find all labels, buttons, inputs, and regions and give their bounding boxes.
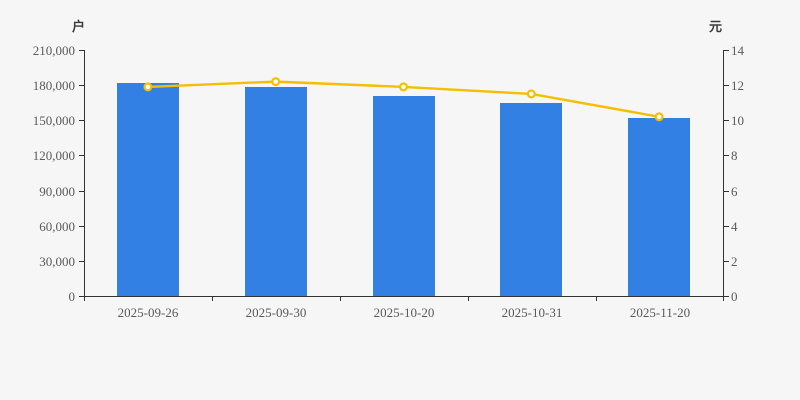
right-axis-title: 元 — [709, 16, 722, 35]
y-right-tick-label-1: 2 — [731, 255, 738, 268]
y-left-axis-line — [84, 50, 85, 297]
y-right-tick-label-0: 0 — [731, 290, 738, 303]
y-right-tick-mark-3 — [724, 191, 729, 192]
y-left-tick-label-6: 180,000 — [33, 79, 75, 92]
bar — [500, 103, 562, 296]
y-left-tick-label-7: 210,000 — [33, 44, 75, 57]
y-left-tick-mark-6 — [79, 85, 84, 86]
y-left-tick-mark-3 — [79, 191, 84, 192]
x-tick-mark-2 — [340, 296, 341, 301]
y-right-tick-mark-0 — [724, 296, 729, 297]
y-left-tick-label-4: 120,000 — [33, 149, 75, 162]
y-right-tick-label-7: 14 — [731, 44, 744, 57]
x-tick-mark-3 — [468, 296, 469, 301]
x-tick-label-4: 2025-11-20 — [596, 305, 724, 321]
y-right-tick-mark-5 — [724, 120, 729, 121]
x-tick-label-0: 2025-09-26 — [84, 305, 212, 321]
x-tick-mark-5 — [723, 296, 724, 301]
line-marker — [400, 84, 407, 91]
y-left-tick-label-2: 60,000 — [39, 220, 75, 233]
chart-container: 户 元 0 30,000 60,000 90,000 120,000 150,0… — [0, 0, 800, 400]
line-marker — [272, 78, 279, 85]
y-left-tick-label-0: 0 — [69, 290, 76, 303]
y-left-tick-mark-1 — [79, 261, 84, 262]
y-right-tick-label-4: 8 — [731, 149, 738, 162]
x-tick-label-1: 2025-09-30 — [212, 305, 340, 321]
y-left-tick-mark-4 — [79, 155, 84, 156]
x-tick-label-3: 2025-10-31 — [468, 305, 596, 321]
x-tick-mark-1 — [212, 296, 213, 301]
bar — [117, 83, 179, 296]
y-right-tick-mark-2 — [724, 226, 729, 227]
y-right-tick-label-3: 6 — [731, 185, 738, 198]
x-tick-mark-4 — [596, 296, 597, 301]
y-right-tick-label-5: 10 — [731, 114, 744, 127]
y-left-tick-label-1: 30,000 — [39, 255, 75, 268]
y-right-tick-mark-1 — [724, 261, 729, 262]
line-marker — [528, 91, 535, 98]
bar — [628, 118, 690, 296]
x-axis-line — [84, 296, 724, 297]
y-left-tick-label-3: 90,000 — [39, 185, 75, 198]
bar — [245, 87, 307, 296]
y-right-tick-mark-4 — [724, 155, 729, 156]
y-left-tick-mark-5 — [79, 120, 84, 121]
y-right-tick-label-2: 4 — [731, 220, 738, 233]
y-left-tick-label-5: 150,000 — [33, 114, 75, 127]
y-right-tick-mark-7 — [724, 50, 729, 51]
y-left-tick-mark-7 — [79, 50, 84, 51]
left-axis-title: 户 — [72, 16, 85, 35]
y-right-axis-line — [723, 50, 724, 297]
y-right-tick-mark-6 — [724, 85, 729, 86]
y-left-tick-mark-2 — [79, 226, 84, 227]
y-right-tick-label-6: 12 — [731, 79, 744, 92]
x-tick-mark-0 — [84, 296, 85, 301]
bar — [373, 96, 435, 296]
x-tick-label-2: 2025-10-20 — [340, 305, 468, 321]
